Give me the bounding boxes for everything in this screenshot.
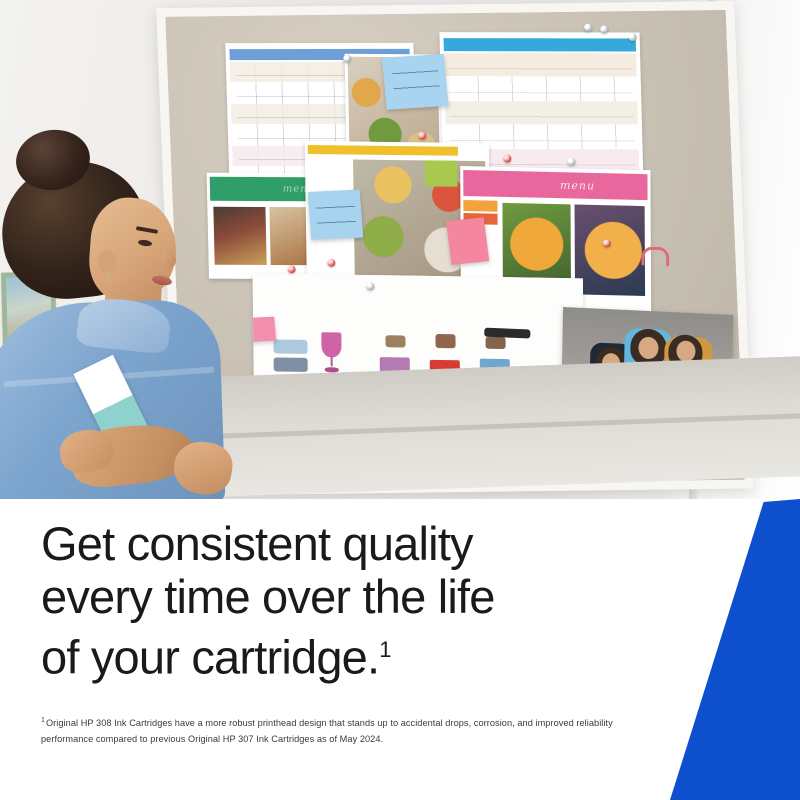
sticky-note-blue [308,190,364,240]
push-pin [327,259,335,267]
sketch-swatch [273,339,307,354]
push-pin [567,158,575,166]
sticky-note-writing [316,199,357,231]
footnote-marker: 1 [41,717,45,724]
menu-header-pink: menu [463,170,647,200]
sketch-swatch [385,335,405,347]
goblet-pink-small [321,332,342,372]
menu-label: menu [560,179,595,193]
goblet-stem [330,356,333,366]
headline-line-3: of your cartridge. [41,631,379,684]
push-pin [418,132,426,140]
hook-icon [641,246,669,266]
push-pin [628,33,636,41]
person-foreground [0,124,272,499]
headline-line-2: every time over the life [41,570,495,623]
hero-photo: menu menu [0,0,800,499]
color-swatch [425,160,457,186]
push-pin [366,282,374,290]
goblet-cup [321,332,341,357]
menu-photo [575,205,646,296]
headline-superscript: 1 [379,637,391,662]
hp-ink-ad: menu menu [0,0,800,800]
page-title: Get consistent quality every time over t… [41,517,681,684]
push-pin [343,55,351,63]
person-earring [106,272,110,282]
footnote: 1Original HP 308 Ink Cartridges have a m… [41,713,651,747]
push-pin [287,265,295,273]
push-pin [584,24,592,32]
footnote-text: Original HP 308 Ink Cartridges have a mo… [41,718,613,744]
person-nose [162,250,176,268]
headline-line-1: Get consistent quality [41,517,473,570]
push-pin [603,239,611,247]
blue-corner-wedge [670,499,800,800]
copy-section: Get consistent quality every time over t… [0,499,800,800]
calendar-header-band [444,38,636,51]
sketch-swatch [485,337,505,349]
push-pin [503,155,511,163]
push-pin [600,25,608,33]
stapler [484,328,530,339]
sticky-note-blue [382,54,449,110]
sketch-swatch [435,334,455,348]
sticky-note-writing [391,65,440,101]
sketch-swatch [274,357,308,372]
sticky-note-pink [446,217,489,265]
color-swatch [463,200,497,212]
color-swatch [308,145,458,156]
person-ear [98,250,116,274]
